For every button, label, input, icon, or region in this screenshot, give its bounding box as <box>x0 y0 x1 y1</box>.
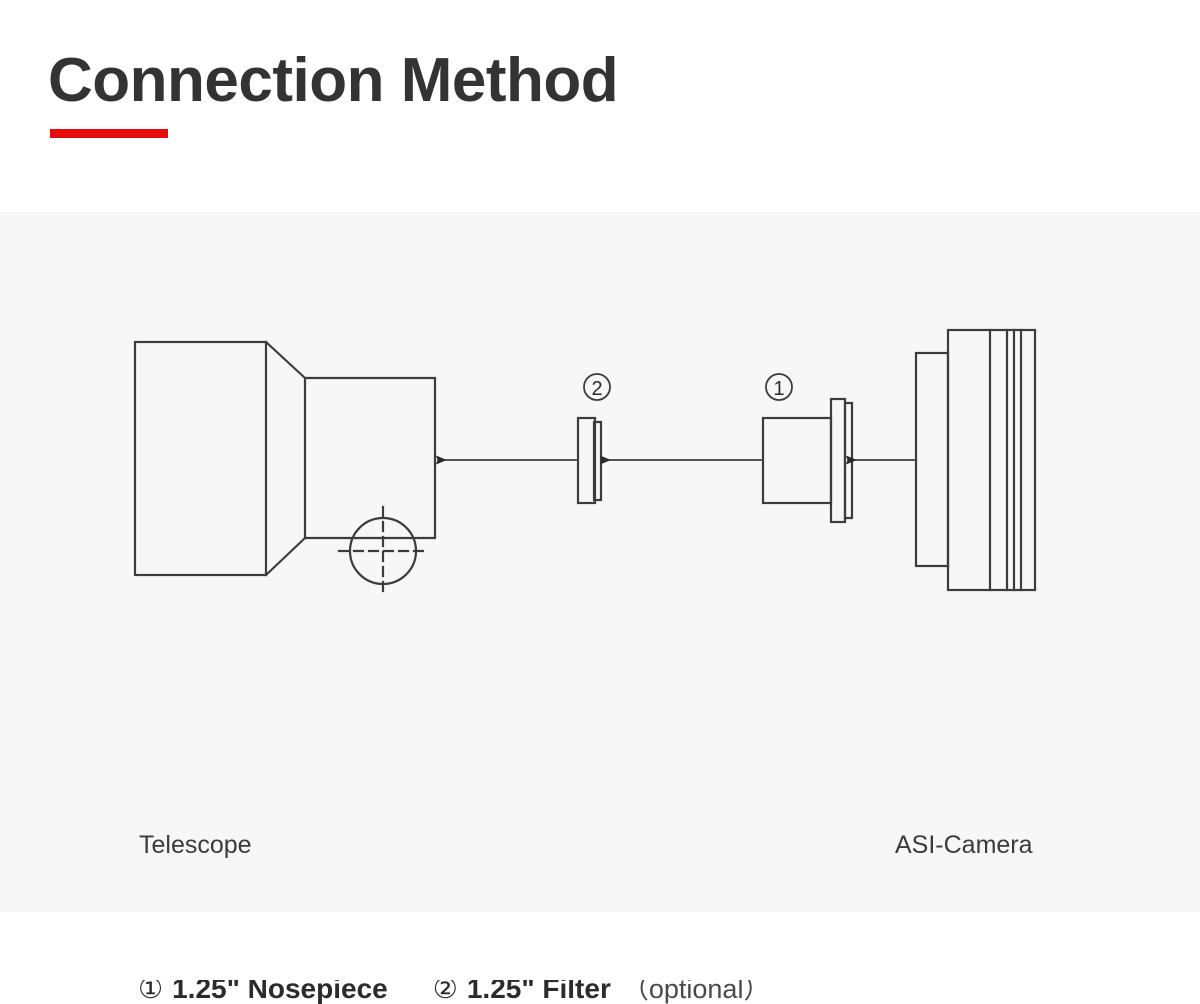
legend-note-filter-optional: （optional） <box>622 976 771 1003</box>
page-footer-spacer <box>0 912 1200 980</box>
callout-label-2: 2 <box>591 378 602 400</box>
callout-label-1: 1 <box>773 378 784 400</box>
camera-front-snout <box>916 353 948 566</box>
page-header: Connection Method <box>0 0 1200 212</box>
filter-body <box>578 418 595 503</box>
page-title: Connection Method <box>48 48 618 113</box>
telescope-focuser-tube <box>305 378 435 538</box>
telescope-part <box>135 342 435 595</box>
diagram-canvas: 2 1 <box>0 212 1200 912</box>
asi-camera-part <box>916 330 1035 590</box>
diagram-panel: 2 1 Telescope ASI-Camera ① 1.25" Nosepie… <box>0 212 1200 912</box>
nosepiece-part <box>763 399 852 522</box>
callout-badges <box>584 374 792 400</box>
nosepiece-barrel <box>763 418 831 503</box>
caption-asi-camera: ASI-Camera <box>895 831 1033 860</box>
nosepiece-ring <box>845 403 852 518</box>
telescope-taper-top <box>266 342 305 378</box>
nosepiece-flange <box>831 399 845 522</box>
caption-telescope: Telescope <box>139 831 252 860</box>
connection-diagram: 2 1 Telescope ASI-Camera ① 1.25" Nosepie… <box>0 212 1200 912</box>
telescope-taper-bottom <box>266 538 305 575</box>
filter-part <box>578 418 601 503</box>
connection-method-page: Connection Method <box>0 0 1200 980</box>
title-underline-accent <box>50 129 168 138</box>
telescope-body <box>135 342 266 575</box>
